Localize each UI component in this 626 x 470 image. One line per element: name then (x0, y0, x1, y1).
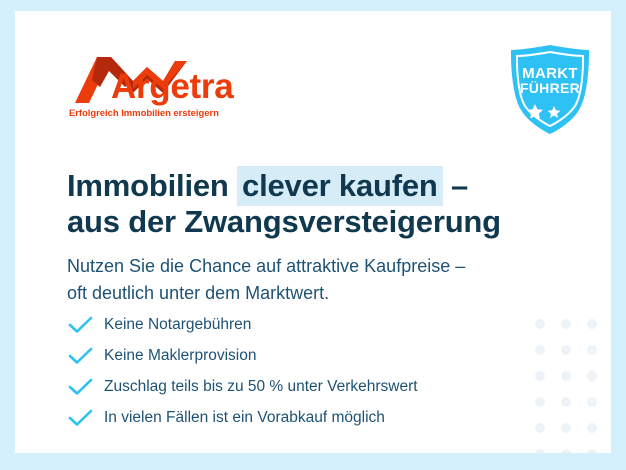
list-item-label: In vielen Fällen ist ein Vorabkauf mögli… (104, 410, 385, 426)
subtitle: Nutzen Sie die Chance auf attraktive Kau… (67, 253, 537, 306)
dot (561, 371, 571, 381)
headline-highlight: clever kaufen (237, 166, 443, 206)
dot (535, 319, 545, 329)
badge-line-2: FÜHRER (507, 81, 593, 95)
dot (561, 319, 571, 329)
headline-line-1-post: – (443, 168, 468, 203)
check-icon (68, 409, 93, 427)
dot-grid-decoration (527, 311, 611, 453)
badge-line-1: MARKT (507, 66, 593, 81)
badge-text-block: MARKT FÜHRER (507, 66, 593, 96)
dot (535, 423, 545, 433)
list-item-label: Keine Maklerprovision (104, 348, 257, 364)
list-item: Keine Notargebühren (68, 309, 498, 340)
argetra-logo[interactable]: Argetra Erfolgreich Immobilien ersteiger… (67, 55, 247, 121)
dot (587, 371, 597, 381)
logo-tagline: Erfolgreich Immobilien ersteigern (69, 108, 219, 119)
subtitle-line-2: oft deutlich unter dem Marktwert. (67, 283, 329, 303)
benefits-list: Keine Notargebühren Keine Maklerprovisio… (68, 309, 498, 433)
dot (587, 345, 597, 355)
market-leader-badge: MARKT FÜHRER (507, 44, 593, 136)
check-icon (68, 316, 93, 334)
dot (587, 397, 597, 407)
list-item: Keine Maklerprovision (68, 340, 498, 371)
list-item-label: Keine Notargebühren (104, 317, 251, 333)
headline-line-1-pre: Immobilien (67, 168, 237, 203)
dot (535, 449, 545, 453)
dot (535, 345, 545, 355)
dot (561, 449, 571, 453)
badge-stars (507, 104, 593, 118)
dot (587, 423, 597, 433)
check-icon (68, 347, 93, 365)
dot (535, 397, 545, 407)
logo-wordmark: Argetra (111, 69, 233, 104)
list-item-label: Zuschlag teils bis zu 50 % unter Verkehr… (104, 379, 418, 395)
check-icon (68, 378, 93, 396)
dot (561, 397, 571, 407)
list-item: In vielen Fällen ist ein Vorabkauf mögli… (68, 402, 498, 433)
dot (535, 371, 545, 381)
page-title: Immobilien clever kaufen – aus der Zwang… (67, 168, 547, 241)
list-item: Zuschlag teils bis zu 50 % unter Verkehr… (68, 371, 498, 402)
dot (561, 423, 571, 433)
three-stars-icon (507, 104, 563, 118)
dot (561, 345, 571, 355)
banner-card: Argetra Erfolgreich Immobilien ersteiger… (15, 11, 611, 453)
promo-banner: Argetra Erfolgreich Immobilien ersteiger… (0, 0, 626, 470)
dot (587, 319, 597, 329)
subtitle-line-1: Nutzen Sie die Chance auf attraktive Kau… (67, 256, 465, 276)
dot (587, 449, 597, 453)
headline-line-2: aus der Zwangsversteigerung (67, 204, 501, 239)
